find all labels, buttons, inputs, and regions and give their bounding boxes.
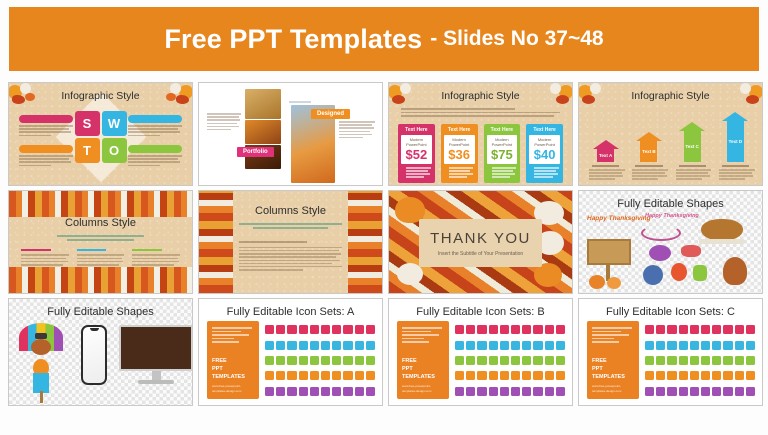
slide-thumb-8[interactable]: Fully Editable Shapes Happy Thanksgiving… bbox=[578, 190, 763, 294]
slide-preview-sheet: Free PPT Templates - Slides No 37~48 bbox=[0, 0, 768, 435]
icon-row-blue bbox=[455, 338, 565, 351]
body-text-block bbox=[339, 121, 375, 140]
panel-note: www.free-powerpoint-templates-design.com bbox=[402, 384, 444, 393]
pumpkin-icon bbox=[607, 277, 621, 289]
bag-icon[interactable] bbox=[712, 325, 721, 334]
swot-cell-w: W bbox=[102, 111, 127, 136]
gear-icon[interactable] bbox=[310, 371, 319, 380]
photo-thumbnail bbox=[245, 89, 281, 119]
pricing-card-head: Text Here bbox=[401, 127, 432, 133]
gift-icon[interactable] bbox=[366, 341, 375, 350]
tree-icon[interactable] bbox=[522, 387, 531, 396]
frame-icon[interactable] bbox=[489, 387, 498, 396]
image-icon[interactable] bbox=[656, 371, 665, 380]
swot-cell-t: T bbox=[75, 138, 100, 163]
bottle-icon[interactable] bbox=[556, 356, 565, 365]
arrow-label: Text B bbox=[640, 141, 657, 162]
arrow-chart: Text A Text B bbox=[587, 109, 754, 181]
bed-icon[interactable] bbox=[276, 341, 285, 350]
arrow-caption bbox=[717, 165, 754, 181]
eye-icon[interactable] bbox=[533, 325, 542, 334]
shirt-icon[interactable] bbox=[287, 341, 296, 350]
home-icon[interactable] bbox=[556, 387, 565, 396]
arrow-up-icon: Text D bbox=[722, 112, 748, 162]
gear-icon[interactable] bbox=[679, 371, 688, 380]
slide-row-1: Infographic Style S W T O bbox=[8, 82, 760, 186]
power-icon[interactable] bbox=[712, 356, 721, 365]
clipart-collection: Happy Thanksgiving Happy Thanksgiving bbox=[583, 211, 758, 291]
pricing-card-head: Text Here bbox=[487, 127, 518, 133]
anchor-icon[interactable] bbox=[533, 387, 542, 396]
apple-icon[interactable] bbox=[299, 356, 308, 365]
slide-thumb-4[interactable]: Infographic Style Text A bbox=[578, 82, 763, 186]
box-icon[interactable] bbox=[332, 371, 341, 380]
sparkle-icon[interactable] bbox=[701, 387, 710, 396]
pumpkin-border-bottom bbox=[9, 267, 192, 293]
briefcase-icon[interactable] bbox=[712, 341, 721, 350]
drop-icon[interactable] bbox=[511, 341, 520, 350]
plus-icon[interactable] bbox=[556, 341, 565, 350]
person-icon[interactable] bbox=[500, 341, 509, 350]
calendar-icon[interactable] bbox=[455, 387, 464, 396]
witch-hat-pumpkin-icon bbox=[643, 265, 663, 285]
pricing-card[interactable]: Text Here Modern PowerPoint $36 bbox=[441, 124, 478, 183]
wooden-sign-icon bbox=[587, 239, 631, 265]
moon-icon[interactable] bbox=[712, 387, 721, 396]
pin-icon[interactable] bbox=[299, 371, 308, 380]
phone-icon[interactable] bbox=[701, 356, 710, 365]
slide-row-2: Columns Style bbox=[8, 190, 760, 294]
pricing-card-head: Text Here bbox=[529, 127, 560, 133]
arrow-label: Text C bbox=[684, 131, 701, 162]
icon-row-blue bbox=[645, 338, 755, 351]
trophy-icon[interactable] bbox=[355, 325, 364, 334]
megaphone-icon[interactable] bbox=[321, 325, 330, 334]
panel-note: www.free-powerpoint-templates-design.com bbox=[212, 384, 254, 393]
intro-text bbox=[401, 108, 560, 119]
icon-row-purple bbox=[265, 385, 375, 398]
brain-icon[interactable] bbox=[522, 325, 531, 334]
arrow-label: Text D bbox=[727, 121, 744, 162]
icon-row-orange bbox=[455, 369, 565, 382]
icon-row-green bbox=[265, 354, 375, 367]
dollar-icon[interactable] bbox=[511, 371, 520, 380]
panel-meta-text bbox=[402, 327, 444, 345]
slide-title: Infographic Style bbox=[579, 90, 762, 102]
comment-icon[interactable] bbox=[679, 356, 688, 365]
flag-icon[interactable] bbox=[746, 325, 755, 334]
camera-icon[interactable] bbox=[667, 341, 676, 350]
location-icon[interactable] bbox=[466, 341, 475, 350]
purple-pumpkin-icon bbox=[649, 245, 671, 261]
slide-title: Fully Editable Icon Sets: B bbox=[389, 306, 572, 318]
heart-icon[interactable] bbox=[690, 325, 699, 334]
muscle-icon[interactable] bbox=[489, 325, 498, 334]
ring-icon[interactable] bbox=[466, 371, 475, 380]
play-icon[interactable] bbox=[645, 371, 654, 380]
battery-icon[interactable] bbox=[332, 341, 341, 350]
scissors-icon[interactable] bbox=[723, 341, 732, 350]
bird-icon[interactable] bbox=[545, 356, 554, 365]
chat-icon[interactable] bbox=[656, 356, 665, 365]
search-icon[interactable] bbox=[679, 325, 688, 334]
arrow-item: Text D bbox=[717, 112, 754, 181]
thank-you-title: THANK YOU bbox=[430, 230, 531, 247]
pricing-card[interactable]: Text Here Modern PowerPoint $52 bbox=[398, 124, 435, 183]
lungs-icon[interactable] bbox=[455, 325, 464, 334]
balloon-icon[interactable] bbox=[343, 325, 352, 334]
slide-title: Fully Editable Icon Sets: A bbox=[199, 306, 382, 318]
lock-open-icon[interactable] bbox=[701, 341, 710, 350]
slide-subtitle bbox=[57, 235, 145, 244]
body-text-block bbox=[207, 113, 241, 132]
camera-icon[interactable] bbox=[299, 325, 308, 334]
slide-title: Fully Editable Shapes bbox=[9, 306, 192, 318]
pricing-card-amount: $36 bbox=[445, 148, 474, 161]
umbrella-icon[interactable] bbox=[723, 387, 732, 396]
pricing-card-sub: Modern PowerPoint bbox=[488, 137, 517, 147]
slide-title: Infographic Style bbox=[389, 90, 572, 102]
slide-thumb-10[interactable]: Fully Editable Icon Sets: A FREE PPT TEM… bbox=[198, 298, 383, 406]
panel-note: www.free-powerpoint-templates-design.com bbox=[592, 384, 634, 393]
arrow-up-icon: Text B bbox=[636, 132, 662, 162]
keyboard-icon[interactable] bbox=[690, 356, 699, 365]
pumpkin-border-top bbox=[9, 191, 192, 217]
icon-row-orange bbox=[265, 369, 375, 382]
bulb-icon[interactable] bbox=[477, 341, 486, 350]
chair-icon[interactable] bbox=[299, 387, 308, 396]
slide-subtitle bbox=[239, 223, 342, 232]
icon-grid bbox=[455, 323, 565, 398]
swot-label-top-right bbox=[128, 115, 182, 138]
hill-icon[interactable] bbox=[746, 387, 755, 396]
pricing-card-sub: Modern PowerPoint bbox=[530, 137, 559, 147]
leaf-icon[interactable] bbox=[489, 356, 498, 365]
corn-icon bbox=[693, 265, 707, 281]
pricing-card[interactable]: Text Here Modern PowerPoint $75 bbox=[484, 124, 521, 183]
arrow-caption bbox=[587, 165, 624, 181]
chart-icon[interactable] bbox=[310, 325, 319, 334]
mountain-icon[interactable] bbox=[679, 387, 688, 396]
scissors-icon[interactable] bbox=[276, 356, 285, 365]
serving-plate-icon bbox=[699, 239, 745, 244]
icon-row-blue bbox=[265, 338, 375, 351]
slide-row-3: Fully Editable Shapes Fully Editable Ico… bbox=[8, 298, 760, 406]
exclamation-icon[interactable] bbox=[735, 325, 744, 334]
person-icon[interactable] bbox=[645, 341, 654, 350]
globe-icon[interactable] bbox=[343, 387, 352, 396]
arrow-item: Text B bbox=[630, 132, 667, 181]
slide-title: Infographic Style bbox=[9, 90, 192, 102]
car-icon[interactable] bbox=[735, 341, 744, 350]
umbrella-icon[interactable] bbox=[679, 341, 688, 350]
crown-icon[interactable] bbox=[276, 371, 285, 380]
shield-check-icon[interactable] bbox=[511, 356, 520, 365]
pricing-card-sub: Modern PowerPoint bbox=[445, 137, 474, 147]
icon-row-purple bbox=[645, 385, 755, 398]
smiley-icon[interactable] bbox=[332, 387, 341, 396]
mushroom-icon[interactable] bbox=[545, 387, 554, 396]
bag-icon[interactable] bbox=[321, 371, 330, 380]
tie-icon[interactable] bbox=[265, 387, 274, 396]
cloud-icon[interactable] bbox=[522, 371, 531, 380]
column bbox=[132, 249, 180, 268]
ham-icon bbox=[681, 245, 701, 257]
dress-icon[interactable] bbox=[276, 387, 285, 396]
card-icon[interactable] bbox=[489, 371, 498, 380]
icon-row-orange bbox=[645, 369, 755, 382]
pen-icon[interactable] bbox=[690, 341, 699, 350]
banner-subtitle: - Slides No 37~48 bbox=[430, 27, 603, 51]
pricing-table: Text Here Modern PowerPoint $52 Text Her… bbox=[398, 124, 563, 183]
tree-icon[interactable] bbox=[265, 356, 274, 365]
bus-icon[interactable] bbox=[746, 341, 755, 350]
laurel-wreath-icon bbox=[641, 225, 681, 241]
mouse-icon[interactable] bbox=[343, 341, 352, 350]
wallet-icon[interactable] bbox=[276, 325, 285, 334]
bag-icon[interactable] bbox=[287, 325, 296, 334]
printer-icon[interactable] bbox=[265, 341, 274, 350]
window-icon[interactable] bbox=[477, 387, 486, 396]
photo-thumbnail bbox=[245, 120, 281, 144]
volume-icon[interactable] bbox=[645, 356, 654, 365]
slide-thumb-7[interactable]: THANK YOU Insert the Subtitle of Your Pr… bbox=[388, 190, 573, 294]
bone-icon[interactable] bbox=[466, 325, 475, 334]
slide-thumb-12[interactable]: Fully Editable Icon Sets: C FREE PPT TEM… bbox=[578, 298, 763, 406]
slide-title: Fully Editable Icon Sets: C bbox=[579, 306, 762, 318]
icon-row-green bbox=[645, 354, 755, 367]
circle-icon[interactable] bbox=[321, 387, 330, 396]
free-ppt-templates-panel: FREE PPT TEMPLATES www.free-powerpoint-t… bbox=[397, 321, 449, 399]
slide-thumb-3[interactable]: Infographic Style Text Here Modern Power… bbox=[388, 82, 573, 186]
arrow-caption bbox=[630, 165, 667, 181]
scarecrow-post-icon bbox=[40, 391, 43, 403]
checklist-icon[interactable] bbox=[265, 371, 274, 380]
book-icon[interactable] bbox=[366, 371, 375, 380]
calendar-icon[interactable] bbox=[366, 356, 375, 365]
gear-icon[interactable] bbox=[511, 387, 520, 396]
monitor-icon[interactable] bbox=[299, 341, 308, 350]
icon-row-green bbox=[455, 354, 565, 367]
panel-meta-text bbox=[592, 327, 634, 345]
icon-row-pink bbox=[645, 323, 755, 336]
image-icon[interactable] bbox=[355, 356, 364, 365]
icon-grid bbox=[645, 323, 755, 398]
clock-icon[interactable] bbox=[332, 325, 341, 334]
column bbox=[21, 249, 69, 268]
arrow-label: Text A bbox=[597, 149, 614, 162]
header-banner: Free PPT Templates - Slides No 37~48 bbox=[10, 8, 758, 70]
arrow-up-icon: Text C bbox=[679, 122, 705, 162]
bacteria-icon[interactable] bbox=[545, 325, 554, 334]
pin-icon[interactable] bbox=[735, 356, 744, 365]
columns-container bbox=[21, 249, 180, 268]
perfume-icon[interactable] bbox=[287, 387, 296, 396]
cloud-rain-icon[interactable] bbox=[656, 387, 665, 396]
slide-thumb-2[interactable]: Portfolio Designed bbox=[198, 82, 383, 186]
slide-title: Fully Editable Shapes bbox=[579, 198, 762, 210]
medal-icon[interactable] bbox=[287, 371, 296, 380]
message-icon[interactable] bbox=[667, 356, 676, 365]
music-note-icon[interactable] bbox=[287, 356, 296, 365]
happy-thanksgiving-script-icon: Happy Thanksgiving bbox=[645, 213, 699, 219]
roast-turkey-icon bbox=[701, 219, 743, 241]
user-icon[interactable] bbox=[545, 371, 554, 380]
slide-grid: Infographic Style S W T O bbox=[8, 82, 760, 410]
panel-brand: FREE PPT TEMPLATES www.free-powerpoint-t… bbox=[212, 358, 254, 393]
pencil-icon[interactable] bbox=[477, 371, 486, 380]
swot-cell-o: O bbox=[102, 138, 127, 163]
slide-thumb-1[interactable]: Infographic Style S W T O bbox=[8, 82, 193, 186]
portfolio-badge: Portfolio bbox=[237, 147, 274, 157]
pricing-card-head: Text Here bbox=[444, 127, 475, 133]
mask-icon[interactable] bbox=[545, 341, 554, 350]
photo-icon[interactable] bbox=[500, 387, 509, 396]
designed-badge: Designed bbox=[311, 109, 350, 119]
pricing-card-amount: $75 bbox=[488, 148, 517, 161]
free-ppt-templates-panel: FREE PPT TEMPLATES www.free-powerpoint-t… bbox=[587, 321, 639, 399]
picture-icon[interactable] bbox=[667, 371, 676, 380]
cone-icon[interactable] bbox=[455, 371, 464, 380]
turkey-body-icon bbox=[31, 339, 51, 355]
briefcase-icon[interactable] bbox=[343, 371, 352, 380]
plane-icon[interactable] bbox=[723, 325, 732, 334]
lock-icon[interactable] bbox=[656, 341, 665, 350]
person-icon[interactable] bbox=[656, 325, 665, 334]
recycle-icon[interactable] bbox=[723, 356, 732, 365]
book-icon[interactable] bbox=[321, 341, 330, 350]
candle-icon[interactable] bbox=[522, 341, 531, 350]
pricing-card-sub: Modern PowerPoint bbox=[402, 137, 431, 147]
swot-cell-s: S bbox=[75, 111, 100, 136]
anchor-icon[interactable] bbox=[712, 371, 721, 380]
cloud-icon[interactable] bbox=[645, 387, 654, 396]
desktop-monitor-mockup bbox=[119, 325, 193, 384]
pumpkin-icon bbox=[589, 275, 605, 289]
icon-row-purple bbox=[455, 385, 565, 398]
panel-brand: FREE PPT TEMPLATES www.free-powerpoint-t… bbox=[592, 358, 634, 393]
liver-icon[interactable] bbox=[500, 325, 509, 334]
pin-icon[interactable] bbox=[455, 341, 464, 350]
free-ppt-templates-panel: FREE PPT TEMPLATES www.free-powerpoint-t… bbox=[207, 321, 259, 399]
icon-grid bbox=[265, 323, 375, 398]
slide-thumb-9[interactable]: Fully Editable Shapes bbox=[8, 298, 193, 406]
boat-icon[interactable] bbox=[735, 371, 744, 380]
slide-title: Columns Style bbox=[199, 205, 382, 217]
cart-icon[interactable] bbox=[366, 325, 375, 334]
swot-label-bottom-left bbox=[19, 145, 73, 168]
cloud-sun-icon[interactable] bbox=[667, 387, 676, 396]
bell-icon[interactable] bbox=[533, 371, 542, 380]
bin-icon[interactable] bbox=[455, 356, 464, 365]
grid-icon[interactable] bbox=[343, 356, 352, 365]
tooth-icon[interactable] bbox=[511, 325, 520, 334]
shield-icon[interactable] bbox=[489, 341, 498, 350]
slide-thumb-11[interactable]: Fully Editable Icon Sets: B FREE PPT TEM… bbox=[388, 298, 573, 406]
arrow-item: Text C bbox=[674, 122, 711, 181]
body-text-block bbox=[239, 241, 342, 272]
fish-icon[interactable] bbox=[746, 371, 755, 380]
check-icon[interactable] bbox=[477, 356, 486, 365]
thank-you-panel: THANK YOU Insert the Subtitle of Your Pr… bbox=[419, 219, 542, 267]
badge-icon[interactable] bbox=[366, 387, 375, 396]
thank-you-subtitle: Insert the Subtitle of Your Presentation bbox=[438, 251, 523, 257]
gender-icon[interactable] bbox=[667, 325, 676, 334]
coffee-icon[interactable] bbox=[355, 371, 364, 380]
grid-icon[interactable] bbox=[466, 387, 475, 396]
slide-title: Columns Style bbox=[9, 217, 192, 229]
people-icon[interactable] bbox=[645, 325, 654, 334]
snowflake-icon[interactable] bbox=[466, 356, 475, 365]
icon-row-pink bbox=[265, 323, 375, 336]
stomach-icon[interactable] bbox=[477, 325, 486, 334]
umbrella-icon[interactable] bbox=[500, 371, 509, 380]
divider bbox=[289, 101, 311, 103]
slide-thumb-5[interactable]: Columns Style bbox=[8, 190, 193, 294]
sword-icon[interactable] bbox=[533, 341, 542, 350]
virus-icon[interactable] bbox=[556, 325, 565, 334]
smartphone-mockup bbox=[81, 325, 107, 385]
panel-brand: FREE PPT TEMPLATES www.free-powerpoint-t… bbox=[402, 358, 444, 393]
phone-icon[interactable] bbox=[310, 341, 319, 350]
download-icon[interactable] bbox=[723, 371, 732, 380]
tie-icon[interactable] bbox=[690, 371, 699, 380]
search-icon[interactable] bbox=[332, 356, 341, 365]
swot-label-bottom-right bbox=[128, 145, 182, 168]
panel-meta-text bbox=[212, 327, 254, 345]
tag-icon[interactable] bbox=[556, 371, 565, 380]
plug-icon[interactable] bbox=[355, 341, 364, 350]
scarecrow-body-icon bbox=[33, 373, 49, 393]
pricing-card[interactable]: Text Here Modern PowerPoint $40 bbox=[526, 124, 563, 183]
thumbs-up-icon[interactable] bbox=[265, 325, 274, 334]
turkey-icon bbox=[723, 257, 747, 285]
happy-thanksgiving-script-icon: Happy Thanksgiving bbox=[587, 215, 651, 222]
arrow-item: Text A bbox=[587, 140, 624, 181]
leaf-icon[interactable] bbox=[310, 356, 319, 365]
column bbox=[77, 249, 125, 268]
icon-row-pink bbox=[455, 323, 565, 336]
slide-thumb-6[interactable]: Columns Style bbox=[198, 190, 383, 294]
arrow-caption bbox=[674, 165, 711, 181]
pricing-card-amount: $40 bbox=[530, 148, 559, 161]
recycle-icon[interactable] bbox=[533, 356, 542, 365]
pumpkin-icon bbox=[671, 263, 687, 281]
key-icon[interactable] bbox=[746, 356, 755, 365]
volcano-icon[interactable] bbox=[690, 387, 699, 396]
swot-matrix: S W T O bbox=[75, 111, 127, 163]
target-icon[interactable] bbox=[355, 387, 364, 396]
turkey-hat-icon bbox=[35, 333, 47, 339]
runner-icon[interactable] bbox=[701, 371, 710, 380]
swot-label-top-left bbox=[19, 115, 73, 138]
arrow-up-icon: Text A bbox=[593, 140, 619, 162]
heart-icon[interactable] bbox=[500, 356, 509, 365]
pizza-icon[interactable] bbox=[522, 356, 531, 365]
banner-title: Free PPT Templates bbox=[164, 24, 422, 55]
camera-icon[interactable] bbox=[701, 325, 710, 334]
tree-icon[interactable] bbox=[735, 387, 744, 396]
pen-icon[interactable] bbox=[310, 387, 319, 396]
pricing-card-amount: $52 bbox=[402, 148, 431, 161]
plant-icon[interactable] bbox=[321, 356, 330, 365]
